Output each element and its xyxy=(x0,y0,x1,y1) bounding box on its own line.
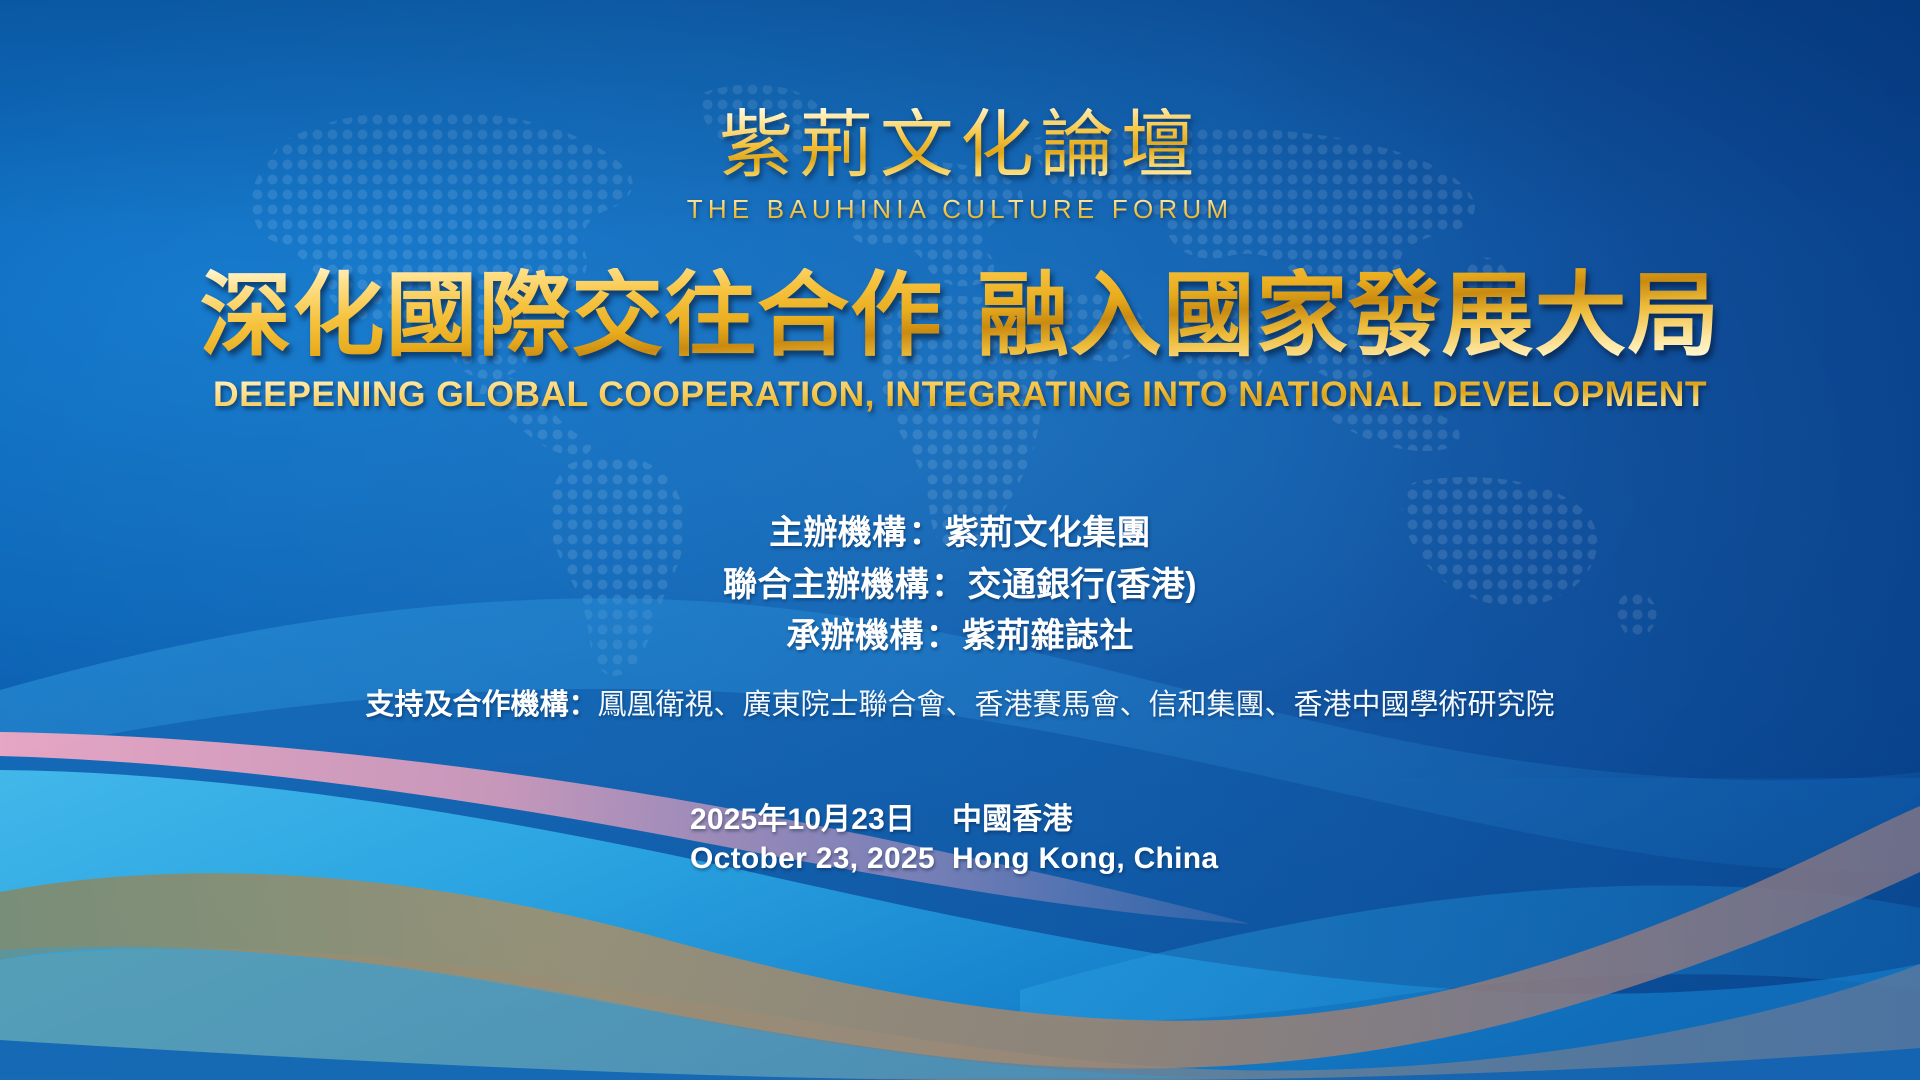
cohost-value: 交通銀行(香港) xyxy=(968,566,1197,604)
event-datetime-venue: 2025年10月23日 中國香港 October 23, 2025 Hong K… xyxy=(690,800,1218,878)
date-col-cn: 2025年10月23日 xyxy=(690,800,952,839)
headline-cn-part2: 融入國家發展大局 xyxy=(977,265,1720,367)
event-venue-cn: 中國香港 xyxy=(952,800,1073,839)
event-venue-en: Hong Kong, China xyxy=(952,839,1218,878)
logo-name-en: THE BAUHINIA CULTURE FORUM xyxy=(0,194,1920,225)
organizer-label: 承辦機構 xyxy=(786,617,923,655)
organizer-value: 紫荊雜誌社 xyxy=(962,617,1134,655)
organizer-separator: ： xyxy=(926,617,960,655)
event-date-en: October 23, 2025 xyxy=(690,839,952,878)
logo-name-cn: 紫荊文化論壇 xyxy=(719,108,1201,182)
venue-col-en: Hong Kong, China xyxy=(952,839,1218,878)
forum-logo: 紫荊文化論壇 THE BAUHINIA CULTURE FORUM xyxy=(0,108,1920,225)
cohost-line: 聯合主辦機構：交通銀行(香港) xyxy=(0,560,1920,612)
date-row-en: October 23, 2025 Hong Kong, China xyxy=(690,839,1218,878)
venue-col-cn: 中國香港 xyxy=(952,800,1073,839)
headline-en: DEEPENING GLOBAL COOPERATION, INTEGRATIN… xyxy=(213,374,1707,415)
organizer-block: 主辦機構：紫荊文化集團 聯合主辦機構：交通銀行(香港) 承辦機構：紫荊雜誌社 支… xyxy=(0,508,1920,726)
date-row-cn: 2025年10月23日 中國香港 xyxy=(690,800,1218,839)
poster-content: 紫荊文化論壇 THE BAUHINIA CULTURE FORUM 深化國際交往… xyxy=(0,0,1920,1080)
headline: 深化國際交往合作融入國家發展大局 DEEPENING GLOBAL COOPER… xyxy=(0,268,1920,415)
poster-canvas: 紫荊文化論壇 THE BAUHINIA CULTURE FORUM 深化國際交往… xyxy=(0,0,1920,1080)
supporters-separator: ： xyxy=(568,689,597,721)
supporters-value: 鳳凰衛視、廣東院士聯合會、香港賽馬會、信和集團、香港中國學術研究院 xyxy=(598,689,1555,721)
date-col-en: October 23, 2025 xyxy=(690,839,952,878)
organizer-line: 承辦機構：紫荊雜誌社 xyxy=(0,611,1920,663)
host-value: 紫荊文化集團 xyxy=(945,514,1151,552)
headline-cn: 深化國際交往合作融入國家發展大局 xyxy=(200,268,1721,366)
supporters-label: 支持及合作機構 xyxy=(365,689,568,721)
host-label: 主辦機構 xyxy=(769,514,906,552)
supporters-line: 支持及合作機構：鳳凰衛視、廣東院士聯合會、香港賽馬會、信和集團、香港中國學術研究… xyxy=(0,685,1920,726)
cohost-separator: ： xyxy=(931,566,965,604)
event-date-cn: 2025年10月23日 xyxy=(690,800,952,839)
host-separator: ： xyxy=(908,514,942,552)
host-line: 主辦機構：紫荊文化集團 xyxy=(0,508,1920,560)
headline-cn-part1: 深化國際交往合作 xyxy=(200,265,943,367)
cohost-label: 聯合主辦機構 xyxy=(723,566,929,604)
